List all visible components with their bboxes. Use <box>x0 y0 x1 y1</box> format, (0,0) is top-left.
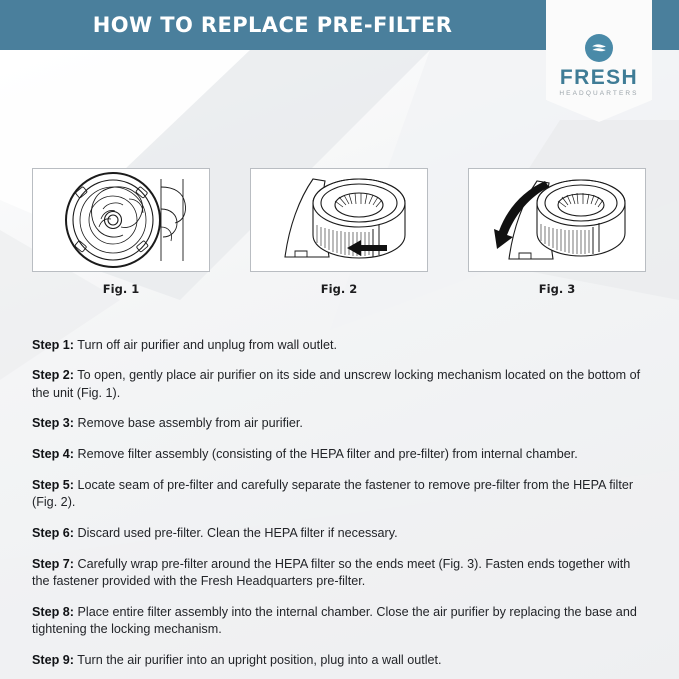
step-text: Remove base assembly from air purifier. <box>78 416 303 430</box>
page-title: HOW TO REPLACE PRE-FILTER <box>0 0 545 50</box>
figure-1-frame <box>32 168 210 272</box>
step-item: Step 6: Discard used pre-filter. Clean t… <box>32 525 647 543</box>
step-item: Step 9: Turn the air purifier into an up… <box>32 652 647 670</box>
wave-circle-icon <box>585 34 613 62</box>
step-item: Step 3: Remove base assembly from air pu… <box>32 415 647 433</box>
step-item: Step 2: To open, gently place air purifi… <box>32 367 647 402</box>
step-label: Step 9: <box>32 653 74 667</box>
figure-2-frame <box>250 168 428 272</box>
step-label: Step 2: <box>32 368 74 382</box>
wave-icon-glyph <box>589 38 609 58</box>
figures-row: Fig. 1 <box>0 168 679 300</box>
step-text: Discard used pre-filter. Clean the HEPA … <box>78 526 398 540</box>
step-label: Step 6: <box>32 526 74 540</box>
figure-1: Fig. 1 <box>32 168 210 296</box>
step-item: Step 8: Place entire filter assembly int… <box>32 604 647 639</box>
figure-1-caption: Fig. 1 <box>32 282 210 296</box>
step-item: Step 1: Turn off air purifier and unplug… <box>32 337 647 355</box>
figure-1-illustration <box>33 169 209 271</box>
step-label: Step 5: <box>32 478 74 492</box>
figure-3-illustration <box>469 169 645 271</box>
figure-2-illustration <box>251 169 427 271</box>
brand-logo-ribbon: FRESH HEADQUARTERS <box>546 0 652 122</box>
figure-2-caption: Fig. 2 <box>250 282 428 296</box>
figure-3-frame <box>468 168 646 272</box>
brand-tagline: HEADQUARTERS <box>559 91 638 98</box>
figure-3: Fig. 3 <box>468 168 646 296</box>
step-text: Locate seam of pre-filter and carefully … <box>32 478 633 510</box>
brand-name: FRESH <box>560 67 638 88</box>
step-label: Step 8: <box>32 605 74 619</box>
steps-list: Step 1: Turn off air purifier and unplug… <box>32 324 647 670</box>
step-label: Step 3: <box>32 416 74 430</box>
step-label: Step 1: <box>32 338 74 352</box>
step-text: Turn the air purifier into an upright po… <box>77 653 441 667</box>
figure-2: Fig. 2 <box>250 168 428 296</box>
step-text: Carefully wrap pre-filter around the HEP… <box>32 557 630 589</box>
step-text: Turn off air purifier and unplug from wa… <box>77 338 337 352</box>
step-item: Step 5: Locate seam of pre-filter and ca… <box>32 477 647 512</box>
step-label: Step 4: <box>32 447 74 461</box>
step-item: Step 4: Remove filter assembly (consisti… <box>32 446 647 464</box>
step-text: Place entire filter assembly into the in… <box>32 605 637 637</box>
step-item: Step 7: Carefully wrap pre-filter around… <box>32 556 647 591</box>
step-text: To open, gently place air purifier on it… <box>32 368 640 400</box>
step-label: Step 7: <box>32 557 74 571</box>
figure-3-caption: Fig. 3 <box>468 282 646 296</box>
step-text: Remove filter assembly (consisting of th… <box>78 447 578 461</box>
instruction-sheet: HOW TO REPLACE PRE-FILTER FRESH HEADQUAR… <box>0 0 679 679</box>
